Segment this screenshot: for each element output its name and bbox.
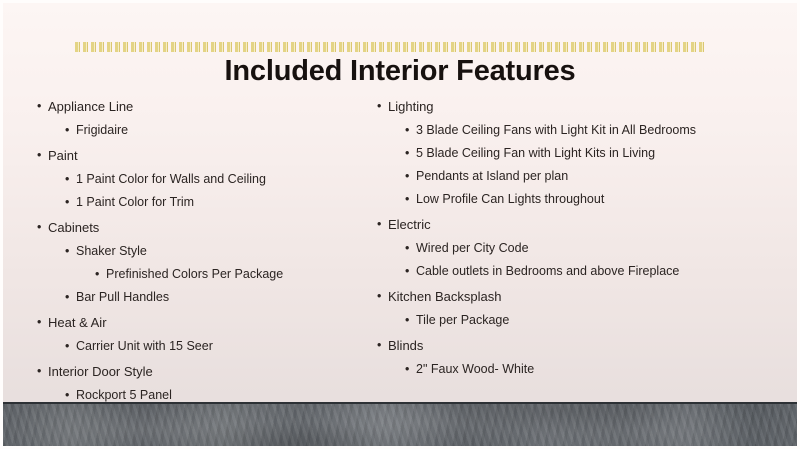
bullet-dot-icon: • xyxy=(405,363,409,376)
list-item-label: Electric xyxy=(388,218,431,232)
bullet-dot-icon: • xyxy=(37,221,41,234)
bullet-dot-icon: • xyxy=(37,365,41,378)
bullet-dot-icon: • xyxy=(405,314,409,327)
list-item: •Cabinets xyxy=(28,221,368,235)
list-item-label: Frigidaire xyxy=(76,124,128,137)
list-item-label: 5 Blade Ceiling Fan with Light Kits in L… xyxy=(416,147,655,160)
bullet-dot-icon: • xyxy=(405,242,409,255)
list-item: •2" Faux Wood- White xyxy=(368,363,768,376)
bullet-dot-icon: • xyxy=(65,291,69,304)
bullet-dot-icon: • xyxy=(405,265,409,278)
list-item: •1 Paint Color for Walls and Ceiling xyxy=(28,173,368,186)
list-item: •Rockport 5 Panel xyxy=(28,389,368,402)
list-item-label: Cable outlets in Bedrooms and above Fire… xyxy=(416,265,679,278)
list-item-label: Interior Door Style xyxy=(48,365,153,379)
list-item: •Heat & Air xyxy=(28,316,368,330)
list-item-label: Prefinished Colors Per Package xyxy=(106,268,283,281)
list-item-label: Lighting xyxy=(388,100,434,114)
list-item: •Carrier Unit with 15 Seer xyxy=(28,340,368,353)
list-item: •Pendants at Island per plan xyxy=(368,170,768,183)
left-column: •Appliance Line•Frigidaire•Paint•1 Paint… xyxy=(28,100,368,425)
content-columns: •Appliance Line•Frigidaire•Paint•1 Paint… xyxy=(0,100,800,395)
bullet-dot-icon: • xyxy=(405,147,409,160)
bullet-dot-icon: • xyxy=(65,389,69,402)
page-title: Included Interior Features xyxy=(0,55,800,88)
list-item-label: Bar Pull Handles xyxy=(76,291,169,304)
list-item-label: Blinds xyxy=(388,339,423,353)
list-item: •Paint xyxy=(28,149,368,163)
list-item: •Cable outlets in Bedrooms and above Fir… xyxy=(368,265,768,278)
bullet-dot-icon: • xyxy=(377,100,381,113)
list-item: •5 Blade Ceiling Fan with Light Kits in … xyxy=(368,147,768,160)
list-item-label: Cabinets xyxy=(48,221,99,235)
bullet-dot-icon: • xyxy=(377,290,381,303)
footer-photo-band xyxy=(0,402,800,449)
bullet-dot-icon: • xyxy=(65,196,69,209)
bullet-dot-icon: • xyxy=(37,100,41,113)
list-item: •Frigidaire xyxy=(28,124,368,137)
bullet-dot-icon: • xyxy=(405,170,409,183)
bullet-dot-icon: • xyxy=(65,340,69,353)
bullet-dot-icon: • xyxy=(65,173,69,186)
list-item-label: Shaker Style xyxy=(76,245,147,258)
list-item: •3 Blade Ceiling Fans with Light Kit in … xyxy=(368,124,768,137)
list-item-label: Heat & Air xyxy=(48,316,107,330)
list-item-label: 1 Paint Color for Trim xyxy=(76,196,194,209)
bullet-dot-icon: • xyxy=(37,316,41,329)
bullet-dot-icon: • xyxy=(377,339,381,352)
bullet-dot-icon: • xyxy=(65,245,69,258)
list-item-label: Paint xyxy=(48,149,78,163)
list-item-label: Pendants at Island per plan xyxy=(416,170,568,183)
list-item: •Appliance Line xyxy=(28,100,368,114)
list-item: •Kitchen Backsplash xyxy=(368,290,768,304)
decorative-gold-rule xyxy=(75,42,706,52)
bullet-dot-icon: • xyxy=(405,124,409,137)
list-item-label: 1 Paint Color for Walls and Ceiling xyxy=(76,173,266,186)
list-item: •Bar Pull Handles xyxy=(28,291,368,304)
list-item: •Electric xyxy=(368,218,768,232)
list-item-label: 2" Faux Wood- White xyxy=(416,363,534,376)
bullet-dot-icon: • xyxy=(37,149,41,162)
list-item: •1 Paint Color for Trim xyxy=(28,196,368,209)
list-item: •Low Profile Can Lights throughout xyxy=(368,193,768,206)
list-item-label: Low Profile Can Lights throughout xyxy=(416,193,604,206)
bullet-dot-icon: • xyxy=(95,268,99,281)
list-item: •Shaker Style xyxy=(28,245,368,258)
list-item-label: Wired per City Code xyxy=(416,242,529,255)
list-item-label: Tile per Package xyxy=(416,314,509,327)
list-item: •Blinds xyxy=(368,339,768,353)
right-bullet-list: •Lighting•3 Blade Ceiling Fans with Ligh… xyxy=(368,100,768,376)
list-item-label: 3 Blade Ceiling Fans with Light Kit in A… xyxy=(416,124,696,137)
list-item: •Interior Door Style xyxy=(28,365,368,379)
list-item: •Tile per Package xyxy=(368,314,768,327)
bullet-dot-icon: • xyxy=(65,124,69,137)
list-item-label: Appliance Line xyxy=(48,100,133,114)
list-item-label: Kitchen Backsplash xyxy=(388,290,501,304)
list-item-label: Rockport 5 Panel xyxy=(76,389,172,402)
slide: Included Interior Features •Appliance Li… xyxy=(0,0,800,449)
list-item: •Prefinished Colors Per Package xyxy=(28,268,368,281)
right-column: •Lighting•3 Blade Ceiling Fans with Ligh… xyxy=(368,100,768,376)
list-item-label: Carrier Unit with 15 Seer xyxy=(76,340,213,353)
list-item: •Lighting xyxy=(368,100,768,114)
photo-band-texture xyxy=(0,404,800,449)
bullet-dot-icon: • xyxy=(377,218,381,231)
list-item: •Wired per City Code xyxy=(368,242,768,255)
bullet-dot-icon: • xyxy=(405,193,409,206)
left-bullet-list: •Appliance Line•Frigidaire•Paint•1 Paint… xyxy=(28,100,368,425)
